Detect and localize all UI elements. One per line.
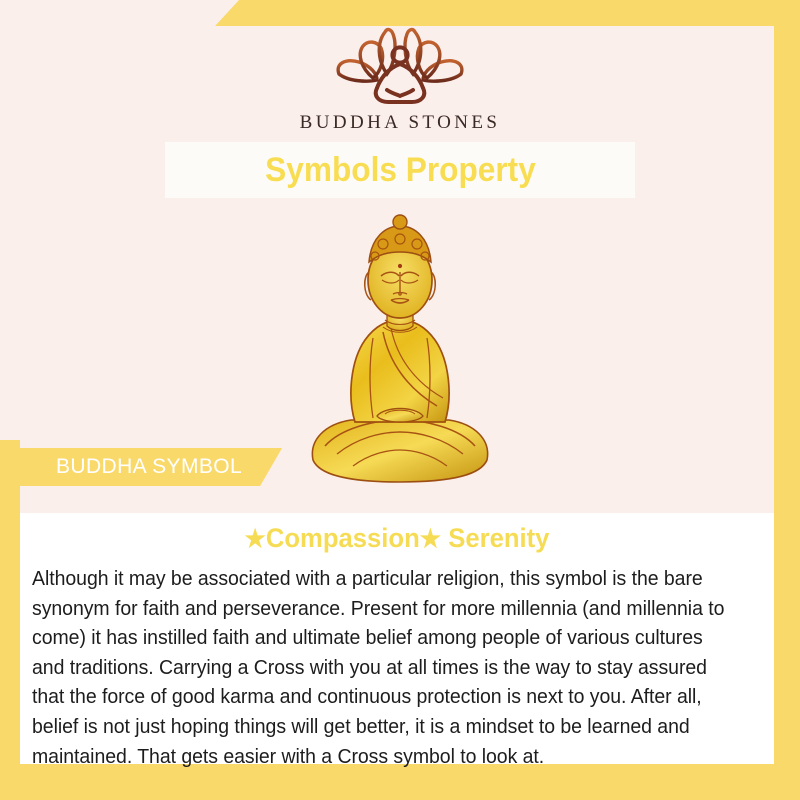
golden-buddha-statue-icon bbox=[295, 210, 505, 495]
subtitle-attributes: ★Compassion★ Serenity bbox=[39, 523, 755, 554]
lotus-meditation-icon bbox=[315, 22, 485, 108]
title-banner: Symbols Property bbox=[165, 142, 635, 198]
subtitle-item-compassion: Compassion bbox=[266, 523, 420, 553]
section-tag-label: BUDDHA SYMBOL bbox=[56, 455, 242, 479]
brand-wordmark: BUDDHA STONES bbox=[0, 112, 800, 134]
page-root: BUDDHA STONES Symbols Property bbox=[0, 0, 800, 800]
section-tag-buddha-symbol: BUDDHA SYMBOL bbox=[20, 448, 282, 486]
content-panel: ★Compassion★ Serenity Although it may be… bbox=[20, 513, 774, 764]
brand-logo: BUDDHA STONES bbox=[0, 22, 800, 134]
decor-left-yellow-bar bbox=[0, 440, 20, 800]
subtitle-item-serenity: Serenity bbox=[448, 523, 549, 553]
body-paragraph: Although it may be associated with a par… bbox=[32, 565, 736, 772]
page-title: Symbols Property bbox=[265, 151, 536, 190]
star-icon: ★ bbox=[420, 525, 441, 553]
star-icon: ★ bbox=[245, 525, 266, 553]
